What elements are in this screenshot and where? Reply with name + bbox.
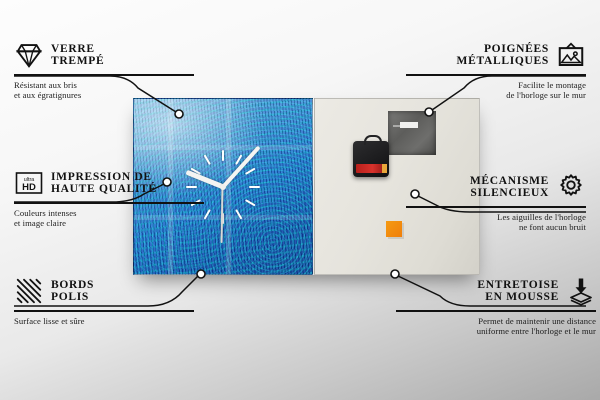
gear-icon xyxy=(556,172,586,202)
foam-spacer xyxy=(386,221,402,237)
feature-divider xyxy=(406,206,586,208)
feature-header: VERRETREMPÉ xyxy=(14,40,194,70)
feature-header: ultraHD IMPRESSION DEHAUTE QUALITÉ xyxy=(14,168,204,198)
feature-header: POIGNÉESMÉTALLIQUES xyxy=(406,40,586,70)
feature-header: MÉCANISMESILENCIEUX xyxy=(406,172,586,202)
feature-poignees-metalliques[interactable]: POIGNÉESMÉTALLIQUES Facilite le montaged… xyxy=(406,40,586,100)
feature-subtitle: Facilite le montagede l'horloge sur le m… xyxy=(406,80,586,101)
feature-title: IMPRESSION DEHAUTE QUALITÉ xyxy=(51,171,157,196)
battery xyxy=(356,164,386,173)
feature-header: BORDSPOLIS xyxy=(14,276,194,306)
feature-verre-trempe[interactable]: VERRETREMPÉ Résistant aux briset aux égr… xyxy=(14,40,194,100)
feature-subtitle: Couleurs intenseset image claire xyxy=(14,208,204,229)
diamond-icon xyxy=(14,40,44,70)
feature-mecanisme-silencieux[interactable]: MÉCANISMESILENCIEUX Les aiguilles de l'h… xyxy=(406,172,586,232)
feature-bords-polis[interactable]: BORDSPOLIS Surface lisse et sûre xyxy=(14,276,194,326)
feature-divider xyxy=(14,74,194,76)
ultra-hd-icon: ultraHD xyxy=(14,168,44,198)
feature-header: ENTRETOISEEN MOUSSE xyxy=(396,276,596,306)
infographic-stage: VERRETREMPÉ Résistant aux briset aux égr… xyxy=(0,0,600,400)
feature-title: VERRETREMPÉ xyxy=(51,43,104,68)
feature-entretoise-en-mousse[interactable]: ENTRETOISEEN MOUSSE Permet de maintenir … xyxy=(396,276,596,336)
feature-title: MÉCANISMESILENCIEUX xyxy=(470,175,549,200)
svg-text:HD: HD xyxy=(22,182,36,193)
feature-divider xyxy=(396,310,596,312)
feature-subtitle: Les aiguilles de l'horlogene font aucun … xyxy=(406,212,586,233)
clock-center-cap xyxy=(220,184,226,190)
feature-title: ENTRETOISEEN MOUSSE xyxy=(477,279,559,304)
feature-subtitle: Résistant aux briset aux égratignures xyxy=(14,80,194,101)
feature-subtitle: Surface lisse et sûre xyxy=(14,316,194,326)
foam-spacer-icon xyxy=(566,276,596,306)
feature-title: BORDSPOLIS xyxy=(51,279,94,304)
feature-divider xyxy=(406,74,586,76)
clock-movement xyxy=(353,141,389,177)
feature-subtitle: Permet de maintenir une distanceuniforme… xyxy=(396,316,596,337)
picture-frame-hook-icon xyxy=(556,40,586,70)
metal-hanger-plate xyxy=(388,111,436,155)
feature-divider xyxy=(14,202,204,204)
polished-edges-icon xyxy=(14,276,44,306)
feature-title: POIGNÉESMÉTALLIQUES xyxy=(457,43,549,68)
feature-impression-haute-qualite[interactable]: ultraHD IMPRESSION DEHAUTE QUALITÉ Coule… xyxy=(14,168,204,228)
feature-divider xyxy=(14,310,194,312)
